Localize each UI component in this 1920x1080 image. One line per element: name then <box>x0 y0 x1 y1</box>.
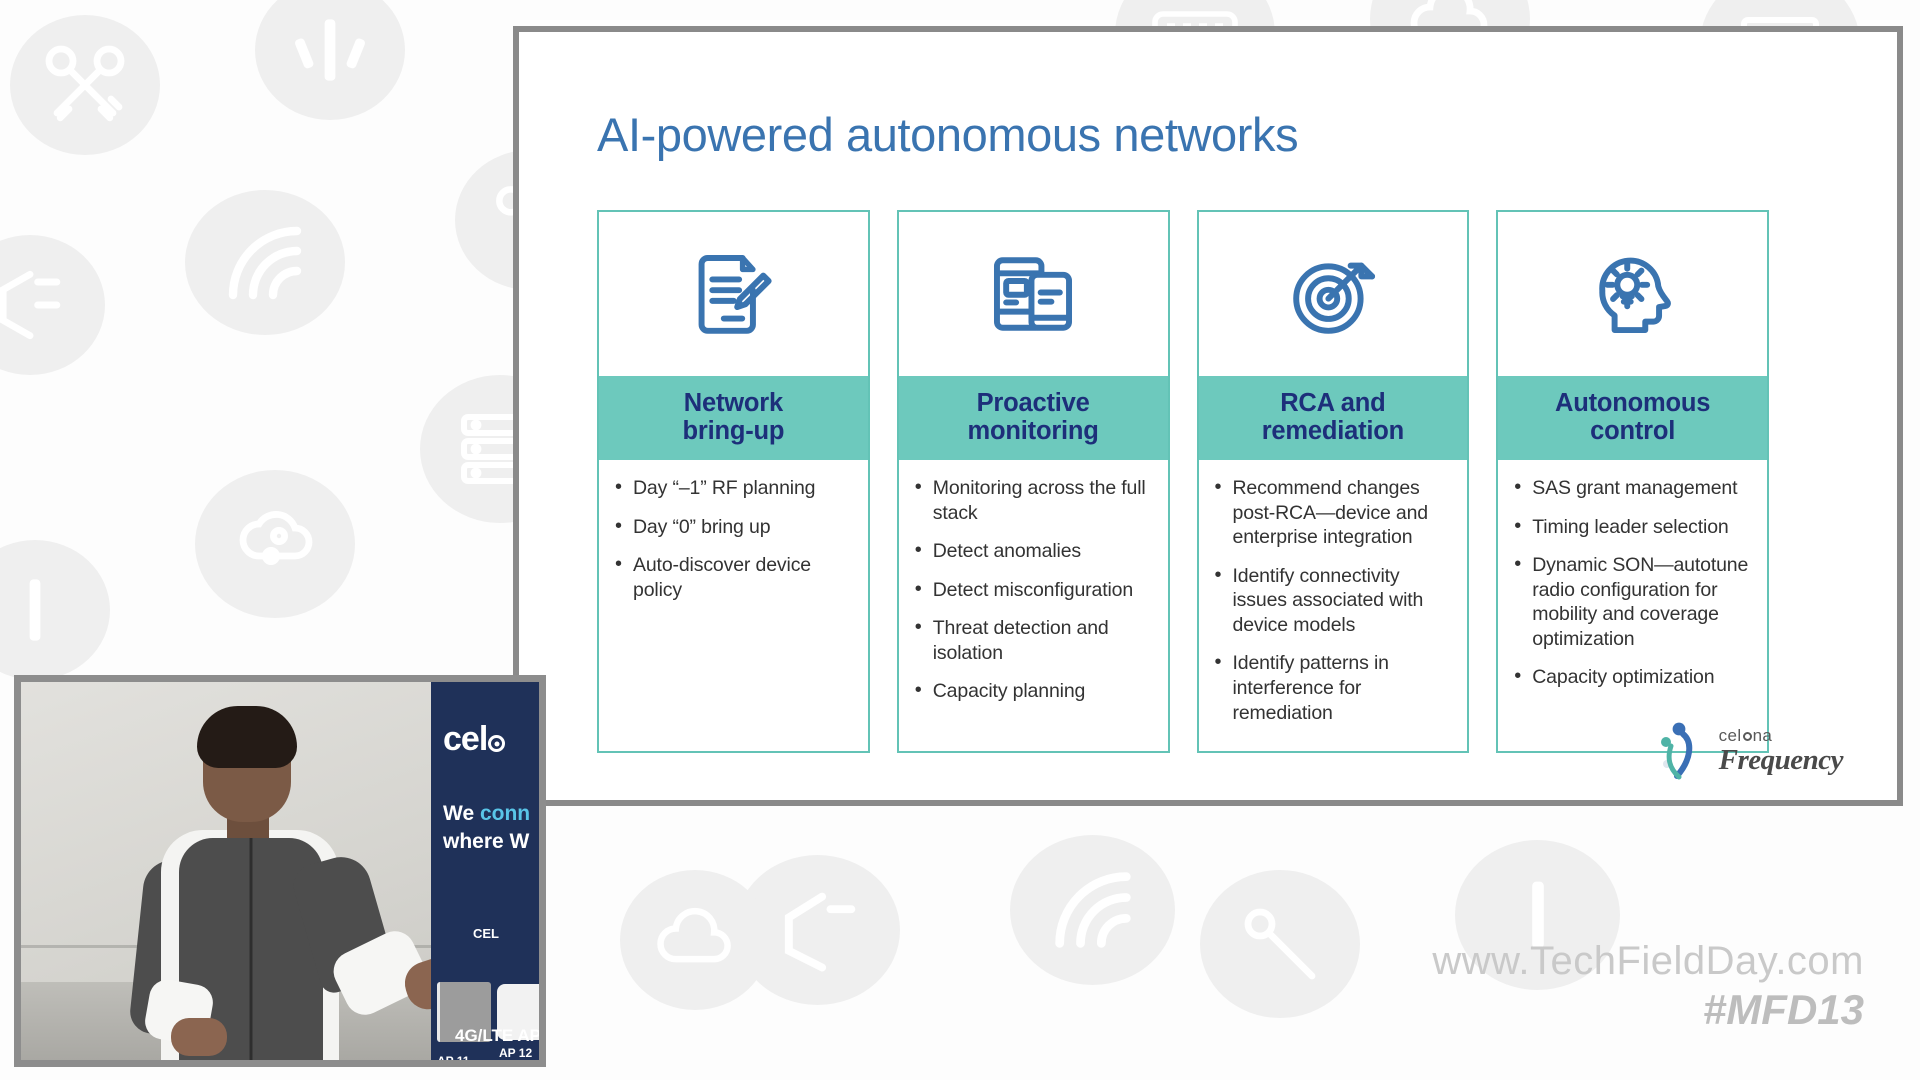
cloud-watermark-icon <box>620 870 770 1010</box>
card-heading-line2: control <box>1504 417 1761 445</box>
banner-ap12-label: AP 12 <box>499 1046 532 1060</box>
celona-swoosh-icon <box>1657 720 1713 782</box>
card-body: Day “–1” RF planning Day “0” bring up Au… <box>599 460 868 751</box>
banner-bottom-label: 4G/LTE AP <box>455 1026 539 1046</box>
list-item: Detect misconfiguration <box>911 578 1154 603</box>
banner-ap11-label: AP 11 <box>437 1054 469 1060</box>
list-item: SAS grant management <box>1510 476 1753 501</box>
card-body: Recommend changes post-RCA—device and en… <box>1199 460 1468 751</box>
key-watermark-icon <box>1200 870 1360 1018</box>
banner-tagline-plain: We <box>443 802 480 825</box>
list-item: Auto-discover device policy <box>611 553 854 602</box>
list-item: Detect anomalies <box>911 539 1154 564</box>
card-heading: RCA and remediation <box>1199 376 1468 460</box>
celona-product-name: Frequency <box>1719 746 1843 775</box>
card-bullet-list: Day “–1” RF planning Day “0” bring up Au… <box>611 476 854 602</box>
capability-card[interactable]: RCA and remediation Recommend changes po… <box>1197 210 1470 753</box>
banner-tagline-accent: conn <box>480 802 530 825</box>
card-heading-line2: remediation <box>1205 417 1462 445</box>
presenter-hair <box>197 706 297 768</box>
card-bullet-list: Recommend changes post-RCA—device and en… <box>1211 476 1454 725</box>
card-heading: Proactive monitoring <box>899 376 1168 460</box>
banner-tagline-line2: where W <box>443 830 529 854</box>
presentation-slide: AI-powered autonomous networks Network <box>513 26 1903 806</box>
list-item: Timing leader selection <box>1510 515 1753 540</box>
list-item: Day “0” bring up <box>611 515 854 540</box>
capability-card[interactable]: Proactive monitoring Monitoring across t… <box>897 210 1170 753</box>
techfieldday-watermark: www.TechFieldDay.com #MFD13 <box>1432 939 1864 1034</box>
signal-tower-watermark-icon <box>0 540 110 680</box>
list-item: Capacity optimization <box>1510 665 1753 690</box>
celona-booth-banner: cel We conn where W CEL AP 11 Wi-Fi Outd… <box>431 682 539 1060</box>
card-heading-line2: bring-up <box>605 417 862 445</box>
celona-brand-lead: cel <box>1719 727 1742 744</box>
card-heading-line1: Autonomous <box>1504 389 1761 417</box>
techfieldday-hashtag: #MFD13 <box>1432 986 1864 1034</box>
list-item: Threat detection and isolation <box>911 616 1154 665</box>
video-frame: cel We conn where W CEL AP 11 Wi-Fi Outd… <box>21 682 539 1060</box>
capability-card[interactable]: Network bring-up Day “–1” RF planning Da… <box>597 210 870 753</box>
card-bullet-list: Monitoring across the full stack Detect … <box>911 476 1154 704</box>
celona-brand-tail: na <box>1753 727 1773 744</box>
list-item: Identify connectivity issues associated … <box>1211 564 1454 638</box>
list-item: Recommend changes post-RCA—device and en… <box>1211 476 1454 550</box>
card-heading: Network bring-up <box>599 376 868 460</box>
list-item: Capacity planning <box>911 679 1154 704</box>
screen-root: AI-powered autonomous networks Network <box>0 0 1920 1080</box>
card-body: SAS grant management Timing leader selec… <box>1498 460 1767 751</box>
banner-logo-dot-icon <box>488 735 505 752</box>
card-heading: Autonomous control <box>1498 376 1767 460</box>
card-heading-line1: Network <box>605 389 862 417</box>
head-lightbulb-icon <box>1498 212 1767 376</box>
list-item: Monitoring across the full stack <box>911 476 1154 525</box>
presenter-left-hand <box>171 1018 227 1056</box>
list-item: Dynamic SON—autotune radio configuration… <box>1510 553 1753 651</box>
banner-sub-label: CEL <box>473 926 499 941</box>
capability-card-row: Network bring-up Day “–1” RF planning Da… <box>597 210 1769 753</box>
card-body: Monitoring across the full stack Detect … <box>899 460 1168 751</box>
card-heading-line1: RCA and <box>1205 389 1462 417</box>
capability-card[interactable]: Autonomous control SAS grant management … <box>1496 210 1769 753</box>
presenter-video-overlay[interactable]: cel We conn where W CEL AP 11 Wi-Fi Outd… <box>14 675 546 1067</box>
banner-tagline-line1: We conn <box>443 802 530 826</box>
celona-brand-text: cel na <box>1719 727 1843 744</box>
list-item: Identify patterns in interference for re… <box>1211 651 1454 725</box>
key-watermark-icon <box>10 15 160 155</box>
bracket-watermark-icon <box>0 235 105 375</box>
dashboard-monitor-icon <box>899 212 1168 376</box>
card-bullet-list: SAS grant management Timing leader selec… <box>1510 476 1753 690</box>
techfieldday-url: www.TechFieldDay.com <box>1432 939 1864 984</box>
celona-o-dot-icon <box>1743 732 1752 741</box>
cloud-link-watermark-icon <box>195 470 355 618</box>
document-pencil-icon <box>599 212 868 376</box>
celona-frequency-logo: cel na Frequency <box>1657 720 1843 782</box>
card-heading-line1: Proactive <box>905 389 1162 417</box>
banner-logo-text: cel <box>443 720 487 758</box>
wifi-watermark-icon <box>1010 835 1175 985</box>
slide-title: AI-powered autonomous networks <box>597 107 1298 162</box>
signal-tower-watermark-icon <box>255 0 405 120</box>
target-arrow-icon <box>1199 212 1468 376</box>
banner-celona-logo: cel <box>443 720 506 759</box>
card-heading-line2: monitoring <box>905 417 1162 445</box>
wifi-watermark-icon <box>185 190 345 335</box>
list-item: Day “–1” RF planning <box>611 476 854 501</box>
